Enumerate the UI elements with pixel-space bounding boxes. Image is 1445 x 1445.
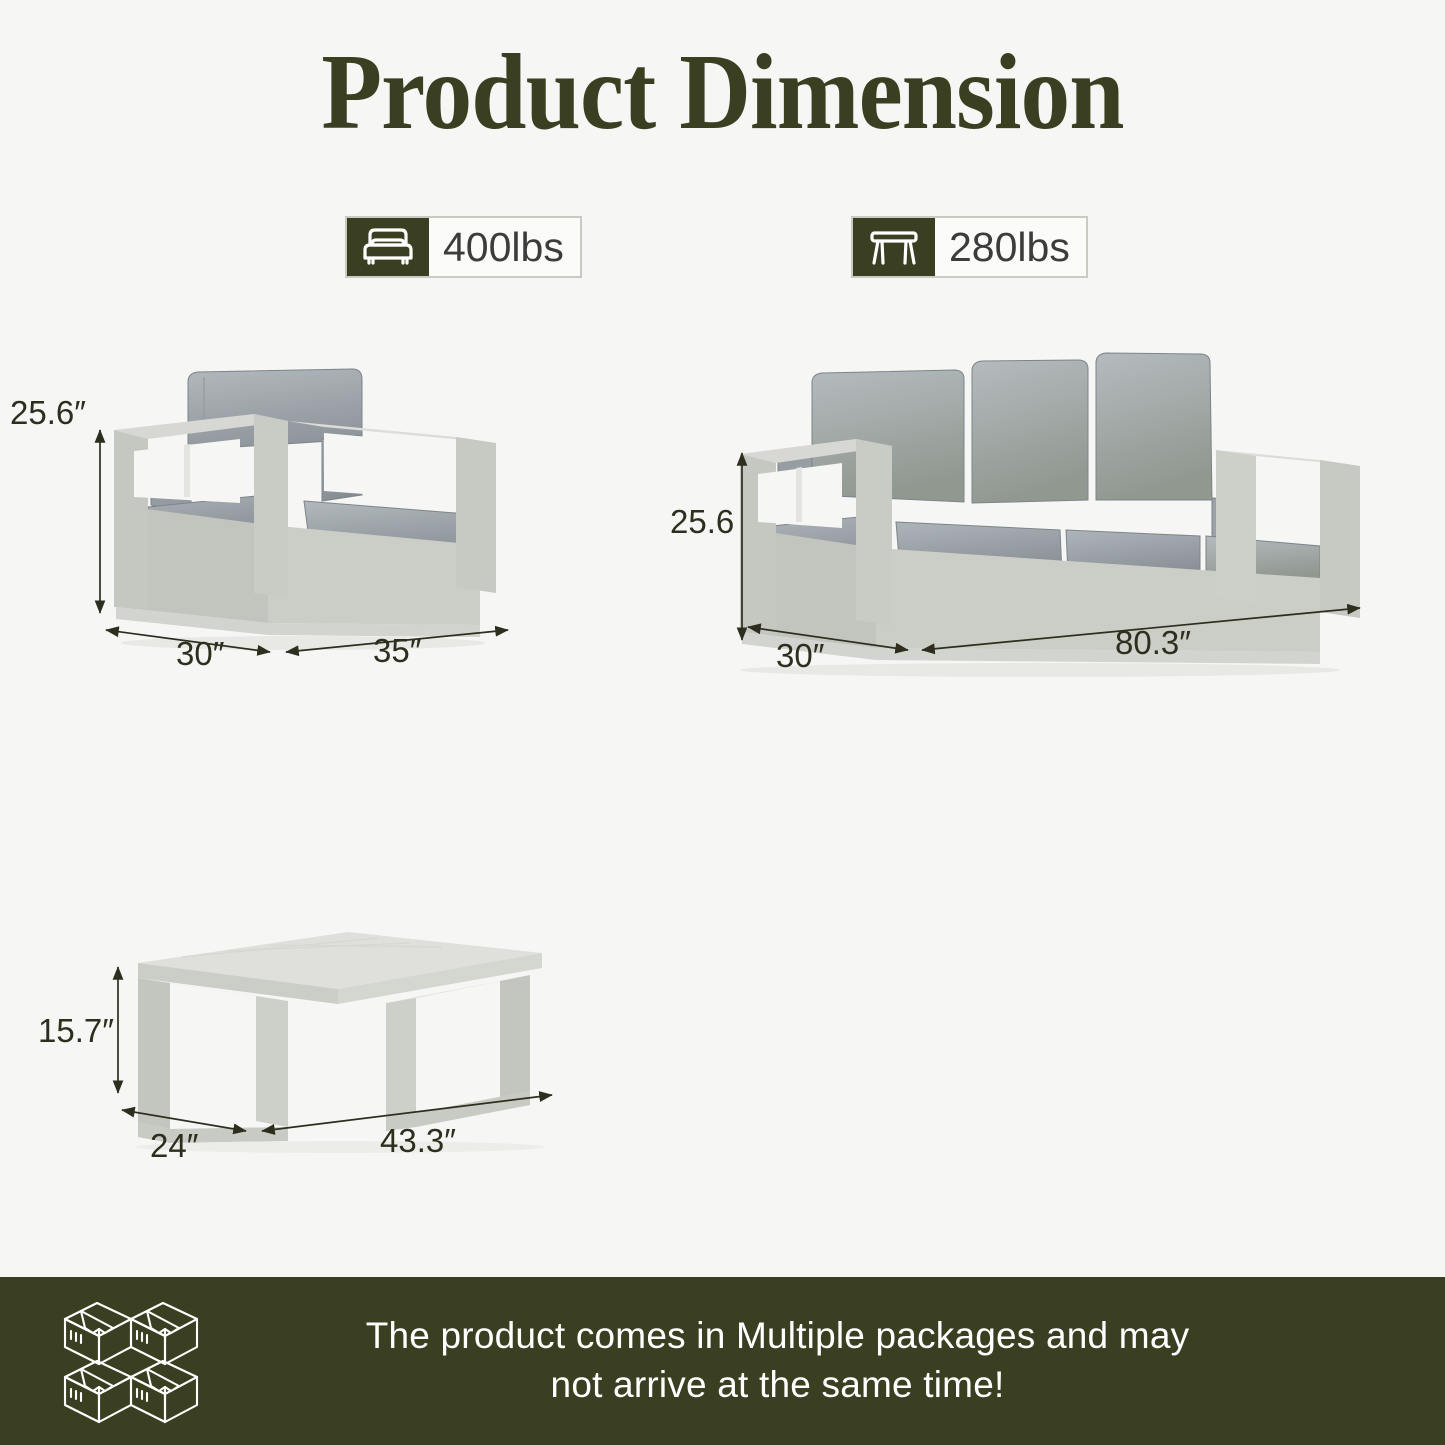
sofa-width-label: 80.3″ <box>1115 624 1191 662</box>
sofa-figure: 25.6 30″ 80.3″ <box>660 350 1370 695</box>
weight-badge-table-value: 280lbs <box>935 218 1086 276</box>
sofa-depth-label: 30″ <box>776 637 824 675</box>
armchair-width-label: 35″ <box>373 632 421 670</box>
coffee-table-height-label: 15.7″ <box>38 1012 114 1050</box>
weight-badge-sofa: 400lbs <box>345 216 582 278</box>
weight-badge-sofa-value: 400lbs <box>429 218 580 276</box>
sofa-icon <box>347 218 429 276</box>
armchair-illustration <box>88 355 518 685</box>
product-dimension-infographic: Product Dimension 400lbs 280lbs <box>0 0 1445 1445</box>
page-title: Product Dimension <box>58 36 1387 149</box>
shipping-notice-banner: The product comes in Multiple packages a… <box>0 1277 1445 1445</box>
armchair-height-label: 25.6″ <box>10 394 86 432</box>
sofa-illustration <box>660 350 1370 695</box>
stacked-boxes-icon <box>55 1289 205 1434</box>
coffee-table-depth-label: 24″ <box>150 1127 198 1165</box>
coffee-table-figure: 15.7″ 24″ 43.3″ <box>90 905 590 1205</box>
armchair-depth-label: 30″ <box>176 635 224 673</box>
shipping-notice-line-2: not arrive at the same time! <box>205 1361 1350 1410</box>
armchair-figure: 25.6″ 30″ 35″ <box>88 355 518 685</box>
coffee-table-width-label: 43.3″ <box>380 1122 456 1160</box>
table-icon <box>853 218 935 276</box>
weight-badge-table: 280lbs <box>851 216 1088 278</box>
shipping-notice-line-1: The product comes in Multiple packages a… <box>205 1312 1350 1361</box>
shipping-notice-text: The product comes in Multiple packages a… <box>205 1312 1445 1410</box>
sofa-height-label: 25.6 <box>670 503 734 541</box>
